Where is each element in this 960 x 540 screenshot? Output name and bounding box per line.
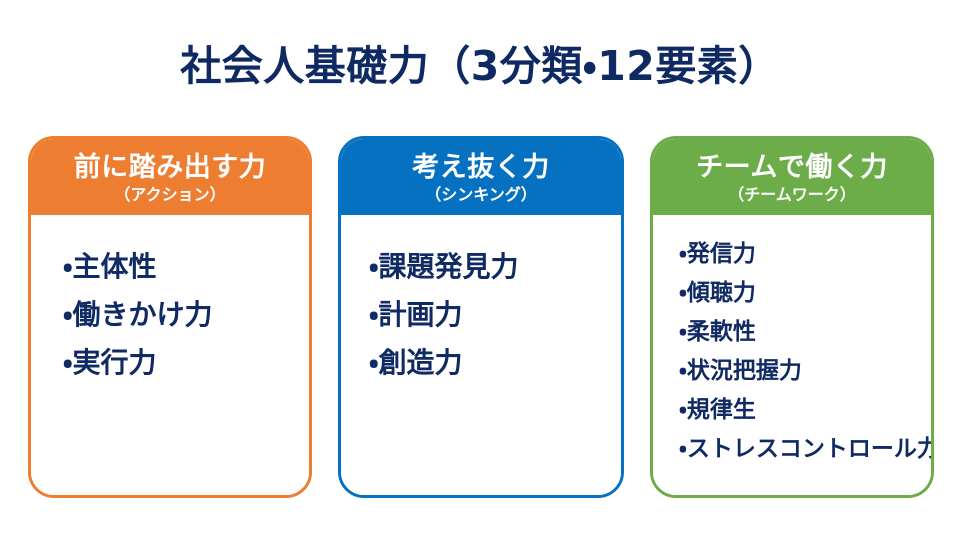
list-item: ・ストレスコントロール力 [653,430,931,469]
card-teamwork-header: チームで働く力 （チームワーク） [653,139,931,215]
card-teamwork-item-list: ・発信力 ・傾聴力 ・柔軟性 ・状況把握力 ・規律生 ・ストレスコントロール力 [653,235,931,469]
card-action-item-list: ・主体性 ・働きかけ力 ・実行力 [31,243,309,387]
list-item: ・状況把握力 [653,352,931,391]
card-thinking-item-list: ・課題発見力 ・計画力 ・創造力 [341,243,621,387]
list-item: ・創造力 [341,339,621,387]
card-thinking-header: 考え抜く力 （シンキング） [341,139,621,215]
list-item: ・計画力 [341,291,621,339]
card-teamwork-body: ・発信力 ・傾聴力 ・柔軟性 ・状況把握力 ・規律生 ・ストレスコントロール力 [653,215,931,495]
card-thinking-subtitle: （シンキング） [341,185,621,204]
list-item: ・実行力 [31,339,309,387]
card-thinking: 考え抜く力 （シンキング） ・課題発見力 ・計画力 ・創造力 [338,136,624,498]
list-item: ・主体性 [31,243,309,291]
list-item: ・発信力 [653,235,931,274]
list-item: ・規律生 [653,391,931,430]
card-teamwork-title: チームで働く力 [653,153,931,183]
list-item: ・傾聴力 [653,274,931,313]
card-teamwork-subtitle: （チームワーク） [653,185,931,204]
card-teamwork: チームで働く力 （チームワーク） ・発信力 ・傾聴力 ・柔軟性 ・状況把握力 ・… [650,136,934,498]
card-action-body: ・主体性 ・働きかけ力 ・実行力 [31,215,309,495]
card-thinking-title: 考え抜く力 [341,153,621,183]
slide-canvas: 社会人基礎力（3分類・12要素） 前に踏み出す力 （アクション） ・主体性 ・働… [0,0,960,540]
list-item: ・課題発見力 [341,243,621,291]
card-action: 前に踏み出す力 （アクション） ・主体性 ・働きかけ力 ・実行力 [28,136,312,498]
card-thinking-body: ・課題発見力 ・計画力 ・創造力 [341,215,621,495]
list-item: ・柔軟性 [653,313,931,352]
card-action-header: 前に踏み出す力 （アクション） [31,139,309,215]
card-action-subtitle: （アクション） [31,185,309,204]
page-title: 社会人基礎力（3分類・12要素） [0,42,960,91]
list-item: ・働きかけ力 [31,291,309,339]
card-action-title: 前に踏み出す力 [31,153,309,183]
